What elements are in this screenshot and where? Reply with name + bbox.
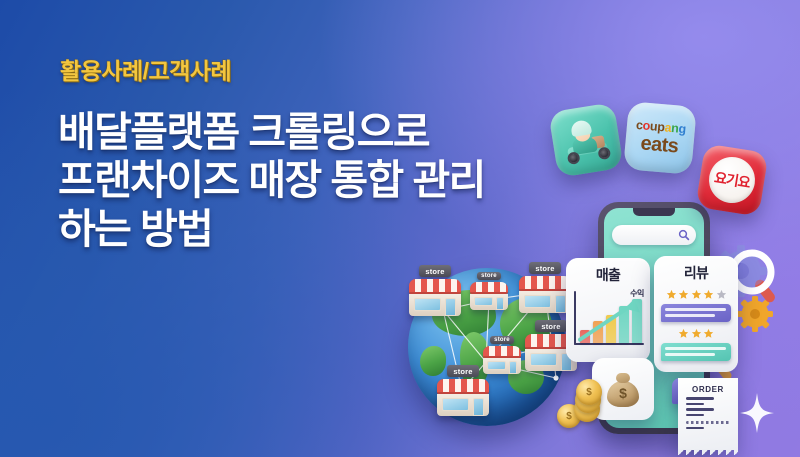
- promo-banner: store store store store: [0, 0, 800, 457]
- star-icon: [716, 289, 727, 300]
- store-marker: store: [409, 265, 461, 316]
- store-awning: [483, 346, 521, 358]
- app-tile-yogiyo: 요기요: [695, 143, 768, 216]
- star-icon: [703, 289, 714, 300]
- store-window: [442, 398, 469, 411]
- store-awning: [409, 279, 461, 294]
- store-body: [409, 294, 461, 316]
- headline-block: 활용사례/고객사례 배달플랫폼 크롤링으로 프랜차이즈 매장 통합 관리 하는 …: [58, 52, 578, 253]
- chart-y-axis: [574, 291, 576, 345]
- headline-line: 프랜차이즈 매장 통합 관리: [58, 156, 578, 204]
- store-marker: store: [519, 262, 571, 313]
- star-icon: [666, 289, 677, 300]
- review-comment-bubble: [661, 343, 731, 361]
- store-door: [496, 297, 504, 310]
- coin-icon: $: [576, 379, 602, 405]
- text-line: [665, 353, 715, 356]
- store-label: store: [447, 365, 478, 377]
- receipt-title: ORDER: [678, 385, 738, 394]
- store-label: store: [490, 336, 514, 344]
- review-card: 리뷰: [654, 256, 738, 372]
- app-tile-coupang-eats: coupang eats: [623, 101, 697, 175]
- review-card-title: 리뷰: [654, 263, 738, 283]
- rating-stars-secondary: [654, 328, 738, 339]
- sales-bar-chart: 수익: [574, 291, 644, 353]
- store-window: [524, 295, 551, 308]
- sales-card-title: 매출: [566, 265, 650, 285]
- headline-line: 하는 방법: [58, 205, 578, 253]
- receipt-line: [686, 414, 704, 417]
- bag-neck: [616, 373, 630, 383]
- store-window: [414, 298, 441, 311]
- search-icon: [678, 229, 690, 241]
- text-line: [665, 347, 726, 350]
- store-window: [487, 361, 506, 370]
- text-line: [665, 308, 726, 311]
- store-door: [473, 398, 484, 416]
- order-receipt: ORDER: [678, 378, 738, 450]
- star-icon: [691, 289, 702, 300]
- store-label: store: [529, 262, 560, 274]
- store-body: [437, 394, 489, 416]
- money-bag-icon: $: [605, 371, 641, 407]
- receipt-divider: [686, 421, 730, 424]
- store-awning: [437, 379, 489, 394]
- store-window: [530, 353, 557, 366]
- receipt-line: [686, 408, 714, 411]
- review-comment-bubble: [661, 304, 731, 322]
- receipt-line: [686, 403, 704, 406]
- star-icon: [691, 328, 702, 339]
- text-line: [665, 314, 715, 317]
- phone-notch: [633, 208, 675, 216]
- star-icon: [678, 289, 689, 300]
- rating-stars-primary: [654, 289, 738, 300]
- receipt-line: [686, 397, 714, 400]
- scooter-wheel: [597, 146, 611, 160]
- profit-label: 수익: [630, 288, 644, 299]
- receipt-torn-edge: [678, 449, 738, 455]
- store-door: [509, 361, 517, 374]
- currency-symbol: $: [605, 385, 641, 401]
- star-icon: [703, 328, 714, 339]
- receipt-line: [686, 427, 704, 430]
- store-awning: [519, 276, 571, 291]
- store-door: [555, 295, 566, 313]
- coupang-letter: g: [678, 122, 687, 137]
- store-marker: store: [437, 365, 489, 416]
- search-input[interactable]: [612, 225, 696, 245]
- store-label: store: [419, 265, 450, 277]
- eats-wordmark: eats: [640, 133, 679, 156]
- star-icon: [678, 328, 689, 339]
- store-window: [474, 297, 493, 306]
- store-marker: store: [470, 272, 508, 310]
- store-label: store: [535, 320, 566, 332]
- store-awning: [470, 282, 508, 294]
- trend-arrow-icon: [578, 297, 642, 344]
- sales-card: 매출 수익: [566, 258, 650, 362]
- store-door: [445, 298, 456, 316]
- yogiyo-circle: 요기요: [706, 154, 759, 207]
- sparkle-icon: [740, 393, 774, 433]
- store-body: [470, 294, 508, 310]
- headline-line: 배달플랫폼 크롤링으로: [58, 108, 578, 156]
- page-title: 배달플랫폼 크롤링으로 프랜차이즈 매장 통합 관리 하는 방법: [58, 108, 578, 253]
- eyebrow-label: 활용사례/고객사례: [60, 52, 578, 86]
- store-body: [519, 291, 571, 313]
- yogiyo-wordmark: 요기요: [713, 167, 751, 192]
- store-label: store: [477, 272, 501, 280]
